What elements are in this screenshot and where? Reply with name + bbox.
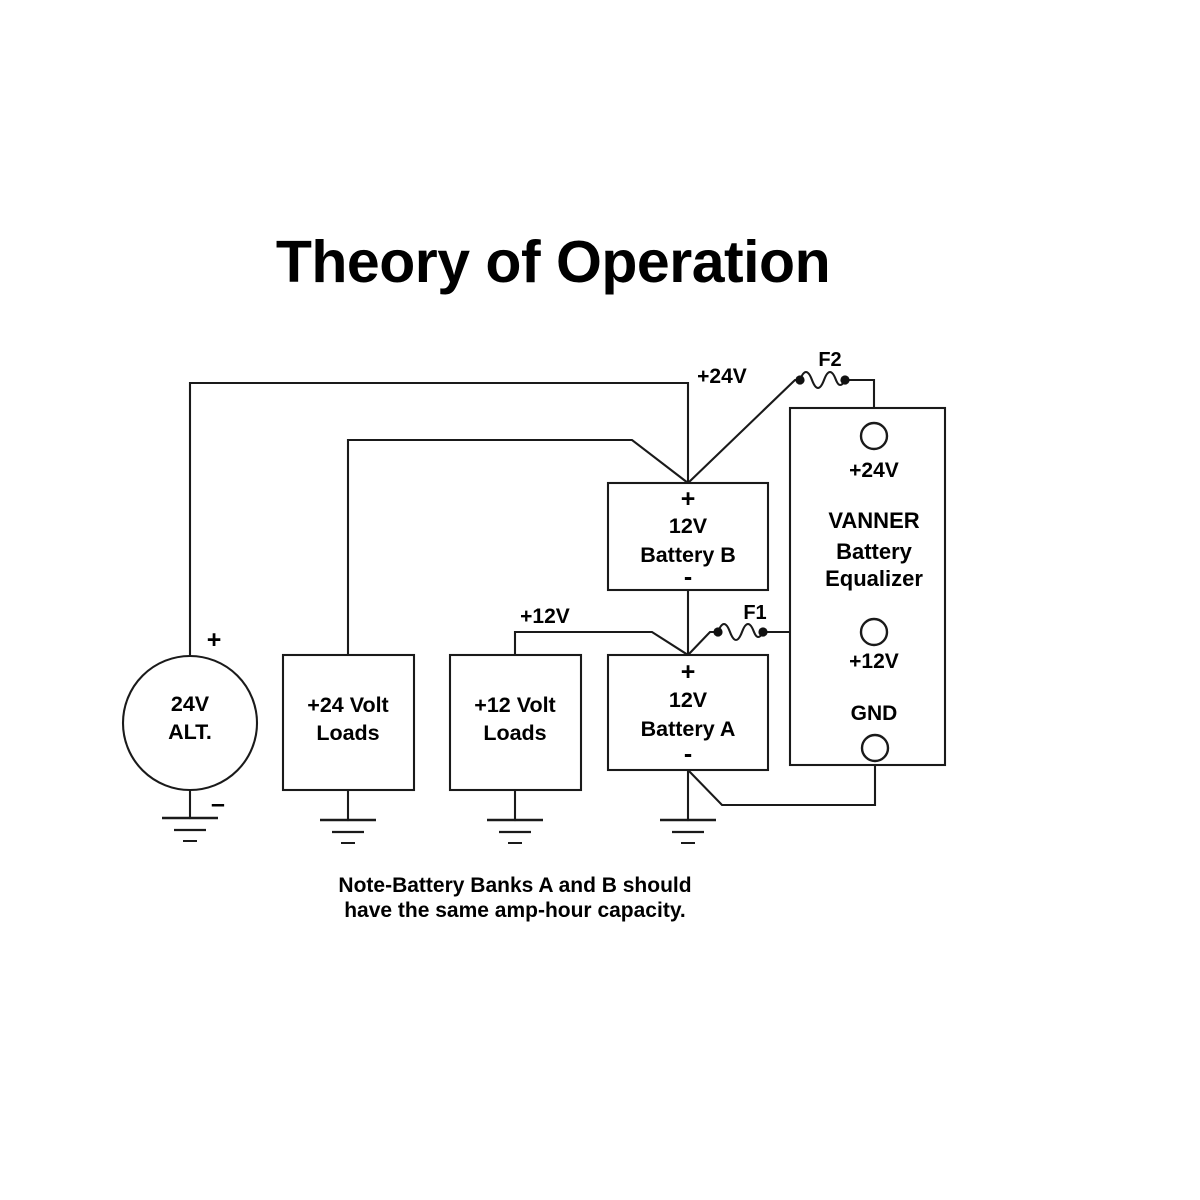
equalizer-name-line2: Equalizer bbox=[825, 566, 923, 591]
equalizer-terminal-24v-label: +24V bbox=[849, 459, 899, 482]
fuse-f2-terminal-dot-left bbox=[795, 375, 804, 384]
note-line-2: have the same amp-hour capacity. bbox=[344, 899, 686, 922]
bus-12v-label: +12V bbox=[520, 605, 570, 628]
battery-a-label-line2: Battery A bbox=[641, 717, 736, 741]
wire-battery-a-to-f1-left bbox=[688, 632, 718, 655]
schematic-canvas: Theory of Operation bbox=[0, 0, 1200, 1200]
equalizer-terminal-24v[interactable] bbox=[861, 423, 887, 449]
equalizer-terminal-gnd[interactable] bbox=[862, 735, 888, 761]
note-line-1: Note-Battery Banks A and B should bbox=[338, 874, 691, 897]
diagram-page: Theory of Operation bbox=[0, 0, 1200, 1200]
fuse-f2-label: F2 bbox=[818, 349, 841, 371]
alternator-label-line2: ALT. bbox=[168, 720, 212, 744]
wire-battery-b-to-f2-left bbox=[688, 380, 800, 483]
loads-24v-label-line1: +24 Volt bbox=[307, 693, 388, 717]
alternator-minus-sign: – bbox=[211, 790, 225, 818]
ground-symbol-24v-loads bbox=[320, 820, 376, 843]
equalizer-terminal-12v[interactable] bbox=[861, 619, 887, 645]
ground-symbol-12v-loads bbox=[487, 820, 543, 843]
equalizer-terminal-12v-label: +12V bbox=[849, 650, 899, 673]
battery-a-minus-sign: - bbox=[684, 740, 692, 768]
equalizer-name-line1: Battery bbox=[836, 539, 913, 564]
battery-a-label-line1: 12V bbox=[669, 688, 708, 712]
fuse-f2-element bbox=[800, 372, 845, 388]
battery-b-plus-sign: + bbox=[681, 485, 696, 513]
fuse-f1-label: F1 bbox=[743, 602, 766, 624]
fuse-f1-terminal-dot-right bbox=[758, 627, 767, 636]
alternator-label-line1: 24V bbox=[171, 692, 210, 716]
ground-symbol-alternator bbox=[162, 818, 218, 841]
alternator-plus-sign: + bbox=[207, 626, 222, 654]
page-title: Theory of Operation bbox=[276, 229, 830, 295]
bus-24v-label: +24V bbox=[697, 365, 747, 388]
ground-symbol-battery-a bbox=[660, 820, 716, 843]
fuse-f2-terminal-dot-right bbox=[840, 375, 849, 384]
equalizer-brand-label: VANNER bbox=[828, 508, 919, 533]
fuse-f1-element bbox=[718, 624, 763, 640]
battery-b-minus-sign: - bbox=[684, 563, 692, 591]
loads-24v-label-line2: Loads bbox=[316, 721, 379, 745]
wire-12v-loads-bus bbox=[515, 632, 688, 655]
battery-b-label-line1: 12V bbox=[669, 514, 708, 538]
fuse-f1-terminal-dot-left bbox=[713, 627, 722, 636]
loads-12v-label-line1: +12 Volt bbox=[474, 693, 555, 717]
equalizer-terminal-gnd-label: GND bbox=[851, 702, 898, 725]
battery-a-plus-sign: + bbox=[681, 658, 696, 686]
loads-12v-label-line2: Loads bbox=[483, 721, 546, 745]
